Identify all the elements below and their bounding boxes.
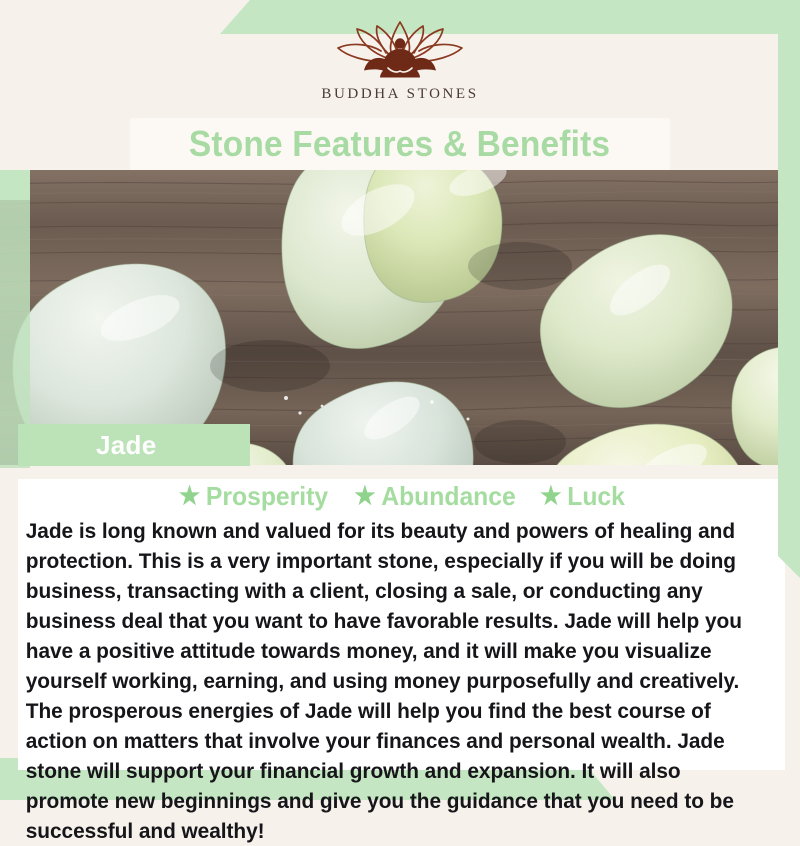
benefit-item-abundance: ★ Abundance (355, 481, 517, 512)
benefit-item-prosperity: ★ Prosperity (179, 481, 328, 512)
star-icon: ★ (355, 484, 376, 509)
title-banner: Stone Features & Benefits (130, 118, 670, 170)
stone-photo (0, 170, 800, 465)
page-title: Stone Features & Benefits (189, 123, 610, 165)
star-icon: ★ (179, 484, 200, 509)
benefit-label: Abundance (382, 481, 516, 512)
description-text: Jade is long known and valued for its be… (18, 514, 762, 846)
stone-name-badge: Jade (18, 424, 250, 466)
left-green-tab (0, 170, 30, 200)
benefit-label: Prosperity (206, 481, 328, 512)
panel-top-spacer (18, 465, 785, 479)
stone-name-label: Jade (96, 430, 156, 461)
benefit-item-luck: ★ Luck (541, 481, 626, 512)
benefit-label: Luck (568, 481, 626, 512)
star-icon: ★ (541, 484, 562, 509)
brand-name: BUDDHA STONES (321, 86, 478, 103)
description-panel: ★ Prosperity ★ Abundance ★ Luck Jade is … (18, 465, 785, 770)
brand-header: BUDDHA STONES (0, 0, 800, 118)
lotus-meditation-icon (325, 18, 475, 80)
right-green-strip (778, 0, 800, 578)
benefits-row: ★ Prosperity ★ Abundance ★ Luck (18, 479, 785, 514)
